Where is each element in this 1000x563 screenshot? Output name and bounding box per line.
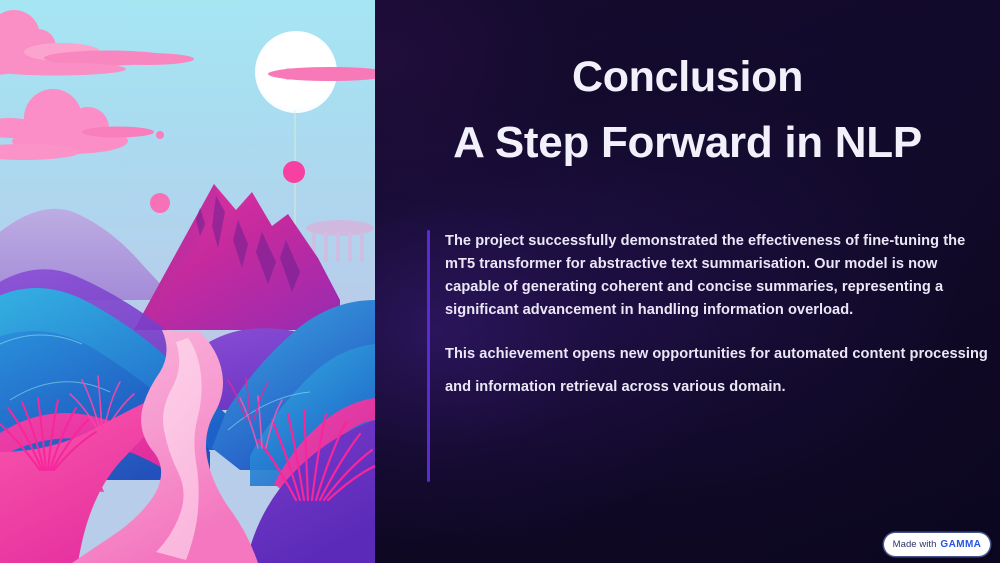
body-text-block: The project successfully demonstrated th… (427, 230, 992, 404)
gamma-logo: GAMMA (940, 539, 981, 550)
title-line-1: Conclusion (375, 44, 1000, 110)
slide-root: Conclusion A Step Forward in NLP The pro… (0, 0, 1000, 563)
made-with-gamma-badge[interactable]: Made with GAMMA (884, 533, 990, 556)
content-panel: Conclusion A Step Forward in NLP The pro… (375, 0, 1000, 563)
body-paragraph-2: This achievement opens new opportunities… (445, 338, 992, 404)
body-paragraph-1: The project successfully demonstrated th… (445, 230, 992, 322)
pink-dot-small (283, 161, 305, 183)
accent-bar (427, 230, 430, 482)
landscape-illustration (0, 0, 375, 563)
made-with-label: Made with (893, 539, 937, 550)
pink-dot-mid (150, 193, 170, 213)
title-line-2: A Step Forward in NLP (375, 110, 1000, 176)
page-title: Conclusion A Step Forward in NLP (375, 44, 1000, 176)
landscape-illustration-svg (0, 0, 375, 563)
